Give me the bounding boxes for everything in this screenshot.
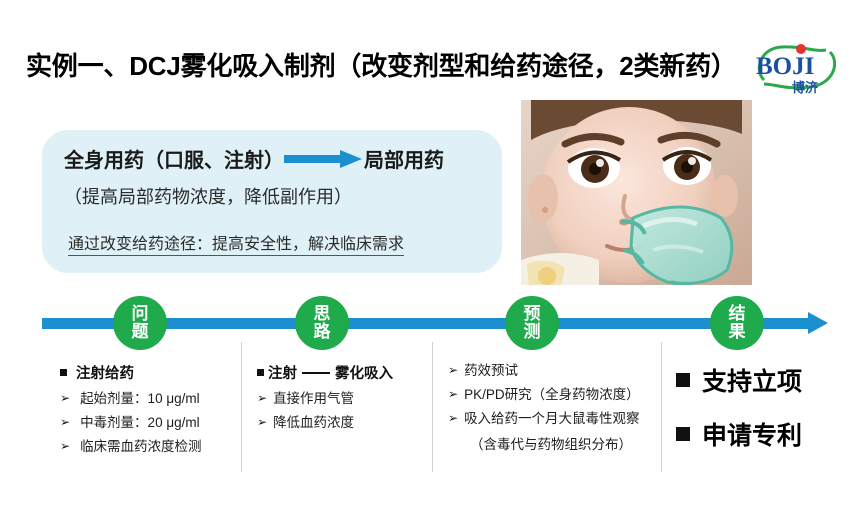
panel-benefit-text: （提高局部药物浓度，降低副作用）	[64, 183, 352, 209]
boji-logo: BOJI 博济	[752, 40, 844, 98]
column-problem-header-label: 注射给药	[76, 362, 134, 383]
arrow-bullet-icon: ➢	[60, 438, 70, 454]
timeline-arrowhead-icon	[808, 312, 828, 334]
list-item-label: 直接作用气管	[273, 390, 354, 408]
route-change-row: 全身用药（口服、注射） 局部用药	[64, 144, 444, 173]
list-item: ➢ 吸入给药一个月大鼠毒性观察	[448, 410, 658, 428]
result-item-label: 申请专利	[702, 416, 802, 452]
square-bullet-icon	[676, 373, 690, 387]
arrow-bullet-icon: ➢	[448, 410, 458, 426]
arrow-bullet-icon: ➢	[257, 390, 267, 406]
square-bullet-icon	[257, 369, 264, 376]
list-item-label: 起始剂量：10 μg/ml	[80, 390, 200, 408]
list-item: ➢ 临床需血药浓度检测	[60, 438, 238, 456]
column-result: 支持立项 申请专利	[676, 362, 851, 470]
column-approach-header: 注射 雾化吸入	[257, 362, 429, 383]
timeline-node-problem[interactable]: 问 题	[113, 296, 167, 350]
node-char-2: 路	[314, 323, 331, 341]
arrow-bullet-icon: ➢	[60, 414, 70, 430]
column-divider-3	[661, 342, 662, 472]
column-problem-header: 注射给药	[60, 362, 238, 383]
column-approach-header-right: 雾化吸入	[335, 362, 393, 383]
node-char-2: 测	[524, 323, 541, 341]
node-char-2: 题	[132, 323, 149, 341]
node-char-2: 果	[729, 323, 746, 341]
column-divider-1	[241, 342, 242, 472]
column-problem: 注射给药 ➢ 起始剂量：10 μg/ml ➢ 中毒剂量：20 μg/ml ➢ 临…	[60, 362, 238, 463]
list-subitem-label: （含毒代与药物组织分布）	[470, 433, 658, 453]
arrow-bullet-icon: ➢	[448, 362, 458, 378]
column-divider-2	[432, 342, 433, 472]
list-item-label: 中毒剂量：20 μg/ml	[80, 414, 200, 432]
route-arrow-icon	[284, 149, 362, 169]
timeline-node-approach[interactable]: 思 路	[295, 296, 349, 350]
svg-text:博济: 博济	[792, 80, 819, 95]
list-item-label: 临床需血药浓度检测	[80, 438, 202, 456]
column-approach-header-left: 注射	[268, 362, 297, 383]
list-item-label: 药效预试	[464, 362, 518, 380]
page-title: 实例一、DCJ雾化吸入制剂（改变剂型和给药途径，2类新药）	[26, 46, 737, 83]
list-item-label: 降低血药浓度	[273, 414, 354, 432]
square-bullet-icon	[676, 427, 690, 441]
baby-nebulizer-photo	[521, 100, 752, 285]
list-item: ➢ 起始剂量：10 μg/ml	[60, 390, 238, 408]
result-item-label: 支持立项	[702, 362, 802, 398]
list-item: ➢ 降低血药浓度	[257, 414, 429, 432]
node-char-1: 结	[729, 305, 746, 323]
slide-canvas: 实例一、DCJ雾化吸入制剂（改变剂型和给药途径，2类新药） BOJI 博济 全身…	[0, 0, 860, 517]
column-approach: 注射 雾化吸入 ➢ 直接作用气管 ➢ 降低血药浓度	[257, 362, 429, 438]
result-item: 申请专利	[676, 416, 851, 452]
timeline-node-prediction[interactable]: 预 测	[505, 296, 559, 350]
column-prediction: ➢ 药效预试 ➢ PK/PD研究（全身药物浓度） ➢ 吸入给药一个月大鼠毒性观察…	[448, 362, 658, 459]
node-char-1: 问	[132, 305, 149, 323]
route-from-label: 全身用药（口服、注射）	[64, 144, 284, 173]
result-item: 支持立项	[676, 362, 851, 398]
route-to-label: 局部用药	[364, 144, 444, 173]
list-item: ➢ 药效预试	[448, 362, 658, 380]
node-char-1: 预	[524, 305, 541, 323]
square-bullet-icon	[60, 369, 67, 376]
list-item: ➢ 中毒剂量：20 μg/ml	[60, 414, 238, 432]
node-char-1: 思	[314, 305, 331, 323]
svg-text:BOJI: BOJI	[756, 53, 814, 80]
timeline-node-result[interactable]: 结 果	[710, 296, 764, 350]
arrow-bullet-icon: ➢	[448, 386, 458, 402]
strategy-panel: 全身用药（口服、注射） 局部用药 （提高局部药物浓度，降低副作用） 通过改变给药…	[42, 130, 502, 273]
list-item-label: PK/PD研究（全身药物浓度）	[464, 386, 640, 404]
list-item-label: 吸入给药一个月大鼠毒性观察	[464, 410, 640, 428]
list-item: ➢ PK/PD研究（全身药物浓度）	[448, 386, 658, 404]
panel-note-text: 通过改变给药途径：提高安全性，解决临床需求	[68, 230, 404, 256]
arrow-bullet-icon: ➢	[60, 390, 70, 406]
list-item: ➢ 直接作用气管	[257, 390, 429, 408]
arrow-bullet-icon: ➢	[257, 414, 267, 430]
connector-line-icon	[302, 372, 330, 374]
